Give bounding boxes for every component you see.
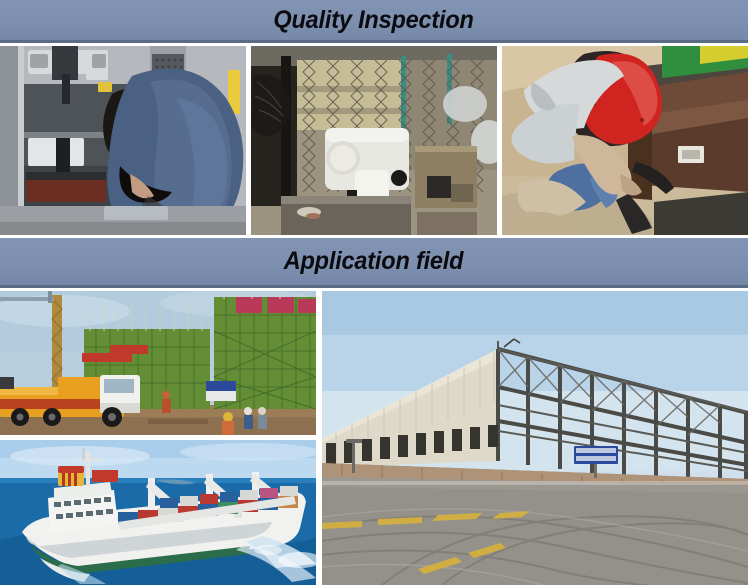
photo-tensile-test-machine: [0, 46, 246, 235]
section-header-application-field: Application field: [0, 238, 748, 288]
quality-inspection-photo-row: [0, 46, 748, 235]
photo-beam-inspection: [502, 46, 748, 235]
photo-construction-site: [0, 291, 316, 435]
photo-measuring-instrument: [251, 46, 497, 235]
page-title: Quality Inspection: [274, 8, 474, 33]
promo-banner-page: Quality Inspection: [0, 0, 748, 581]
application-field-photo-grid: [0, 291, 748, 585]
section-header-quality-inspection: Quality Inspection: [0, 0, 748, 43]
photo-container-ship: [0, 440, 316, 585]
photo-steel-structure-warehouse: [322, 291, 748, 585]
section-title: Application field: [284, 249, 464, 274]
application-field-left-column: [0, 291, 316, 585]
